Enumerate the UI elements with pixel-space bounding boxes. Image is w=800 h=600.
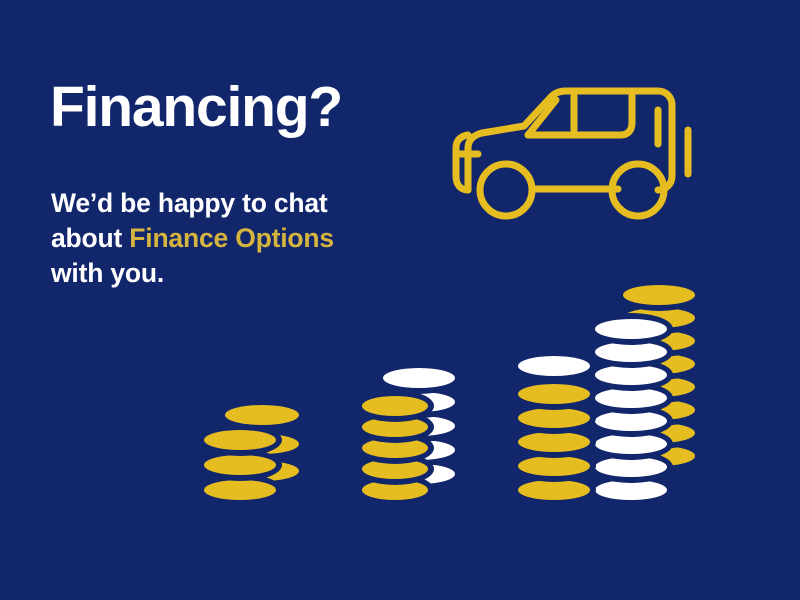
coin — [512, 426, 596, 458]
body-line-1: We’d be happy to chat — [51, 186, 334, 221]
body-line-2-prefix: about — [51, 223, 129, 253]
coin — [512, 474, 596, 506]
body-line-2: about Finance Options — [51, 221, 334, 256]
coin — [377, 458, 461, 490]
body-copy: We’d be happy to chat about Finance Opti… — [51, 186, 334, 292]
coin — [617, 371, 701, 403]
coin — [198, 474, 282, 506]
coin — [219, 428, 305, 460]
coin — [589, 359, 673, 391]
coin — [617, 325, 701, 357]
coin — [356, 390, 434, 422]
body-line-3: with you. — [51, 256, 334, 291]
coin — [512, 378, 596, 410]
suv-car-outline-icon — [446, 82, 712, 230]
coin — [589, 428, 673, 460]
coin — [356, 453, 434, 485]
coin — [617, 279, 701, 311]
coin — [512, 402, 596, 434]
coin — [617, 394, 701, 426]
coin — [617, 417, 701, 449]
coin — [219, 399, 305, 431]
coin — [589, 474, 673, 506]
coin — [377, 410, 461, 442]
coin — [589, 313, 673, 345]
coin — [198, 449, 282, 481]
coin — [589, 405, 673, 437]
coin — [512, 450, 596, 482]
coin — [377, 434, 461, 466]
coin — [589, 336, 673, 368]
coin — [219, 455, 305, 487]
coin — [617, 302, 701, 334]
coin — [356, 474, 434, 506]
coin — [589, 451, 673, 483]
coin — [356, 432, 434, 464]
coin — [617, 440, 701, 472]
coin — [198, 424, 282, 456]
coin — [512, 350, 596, 382]
finance-options-highlight: Finance Options — [129, 223, 334, 253]
coin — [377, 386, 461, 418]
coin — [617, 348, 701, 380]
coin — [377, 362, 461, 394]
coin — [589, 382, 673, 414]
coin — [356, 411, 434, 443]
page-title: Financing? — [50, 78, 342, 138]
financing-promo-slide: Financing? We’d be happy to chat about F… — [0, 0, 800, 600]
